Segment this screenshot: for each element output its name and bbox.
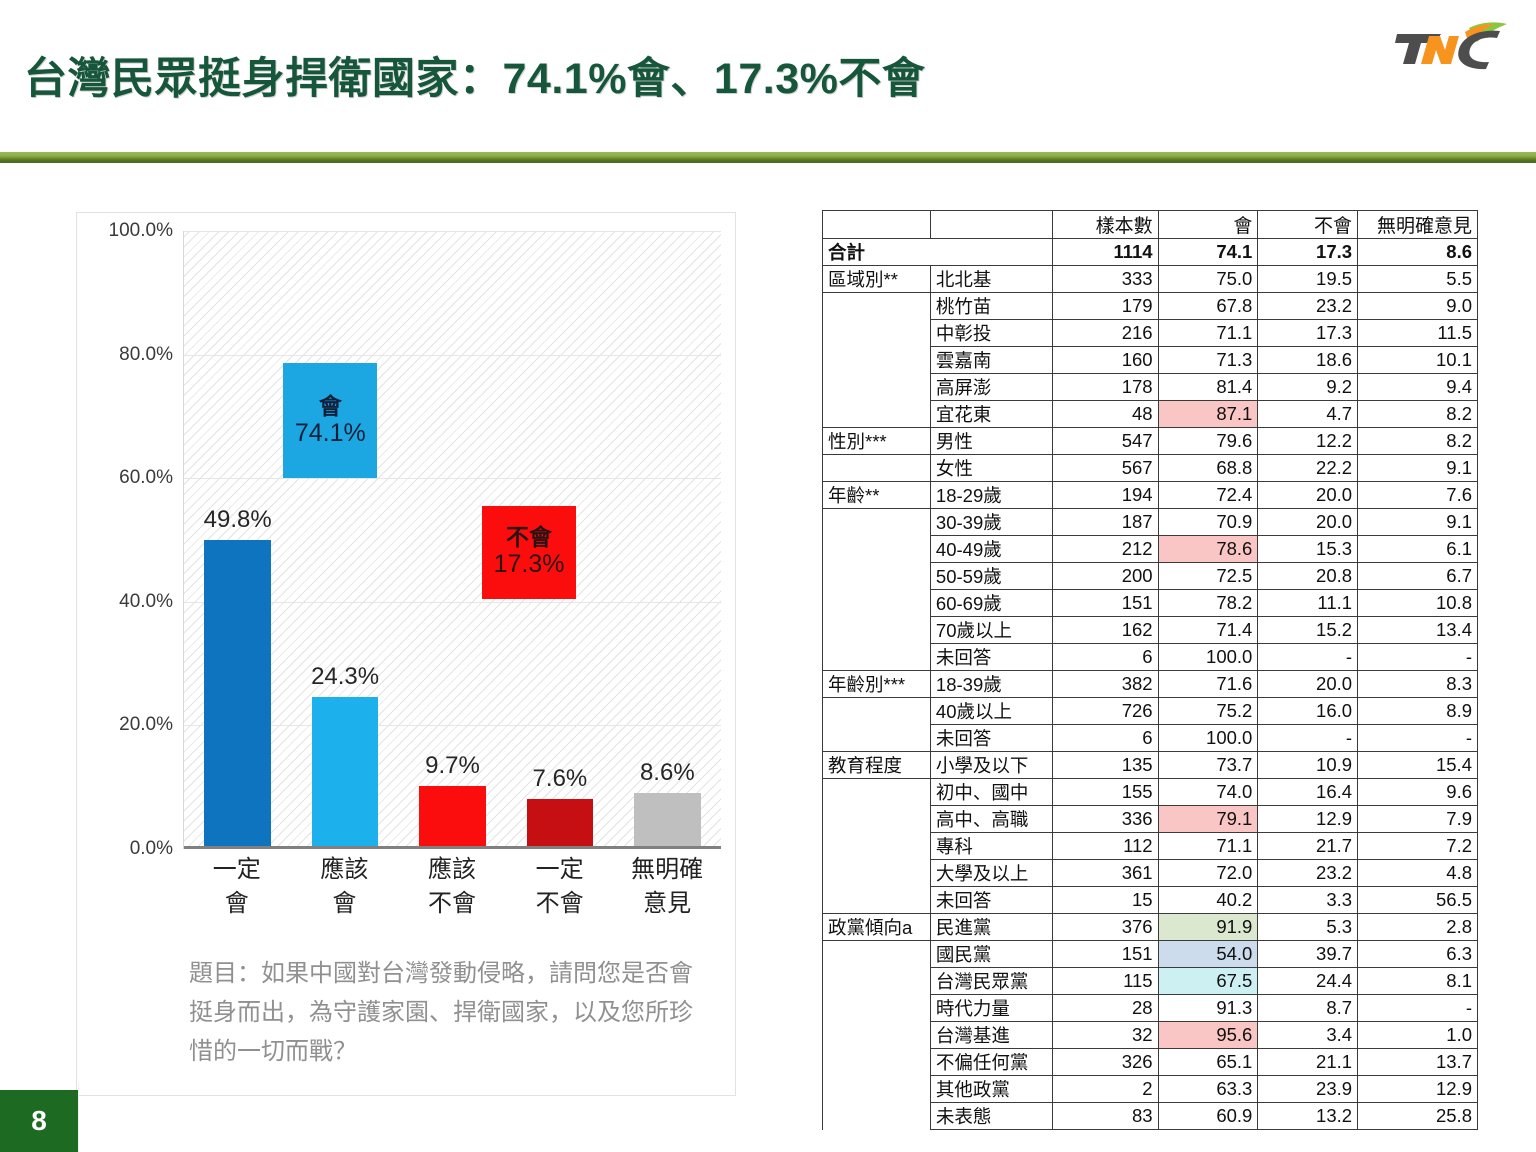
- row-yes-pct: 67.8: [1158, 293, 1258, 320]
- x-label-1-line1: 應該: [291, 853, 399, 887]
- row-yes-pct: 100.0: [1158, 644, 1258, 671]
- row-na-pct: -: [1358, 644, 1478, 671]
- row-na-pct: 5.5: [1358, 266, 1478, 293]
- callout-no-label: 不會: [506, 525, 552, 549]
- row-yes-pct: 91.3: [1158, 995, 1258, 1022]
- row-yes-pct: 75.2: [1158, 698, 1258, 725]
- row-no-pct: 16.0: [1258, 698, 1358, 725]
- table-row: 時代力量2891.38.7-: [823, 995, 1478, 1022]
- row-na-pct: 6.7: [1358, 563, 1478, 590]
- row-na-pct: 13.7: [1358, 1049, 1478, 1076]
- row-sample-size: 200: [1052, 563, 1158, 590]
- row-yes-pct: 74.1: [1158, 239, 1258, 266]
- row-group-label: [823, 725, 931, 752]
- row-group-label: [823, 644, 931, 671]
- row-yes-pct: 72.4: [1158, 482, 1258, 509]
- row-na-pct: 9.6: [1358, 779, 1478, 806]
- row-sample-size: 6: [1052, 725, 1158, 752]
- row-na-pct: 6.3: [1358, 941, 1478, 968]
- row-sample-size: 216: [1052, 320, 1158, 347]
- row-na-pct: 56.5: [1358, 887, 1478, 914]
- row-sub-label: 60-69歲: [930, 590, 1052, 617]
- row-sub-label: 18-29歲: [930, 482, 1052, 509]
- row-yes-pct: 72.0: [1158, 860, 1258, 887]
- page-number: 8: [0, 1090, 78, 1152]
- x-label-4: 無明確 意見: [613, 853, 721, 949]
- th-sub: [930, 211, 1052, 239]
- row-group-label: [823, 509, 931, 536]
- row-na-pct: 7.6: [1358, 482, 1478, 509]
- row-group-label: [823, 536, 931, 563]
- table-row: 其他政黨263.323.912.9: [823, 1076, 1478, 1103]
- table-row: 女性56768.822.29.1: [823, 455, 1478, 482]
- row-no-pct: 4.7: [1258, 401, 1358, 428]
- row-yes-pct: 79.6: [1158, 428, 1258, 455]
- x-label-2: 應該 不會: [398, 853, 506, 949]
- row-yes-pct: 73.7: [1158, 752, 1258, 779]
- row-sub-label: 50-59歲: [930, 563, 1052, 590]
- row-sample-size: 151: [1052, 590, 1158, 617]
- row-no-pct: 24.4: [1258, 968, 1358, 995]
- row-no-pct: 20.0: [1258, 482, 1358, 509]
- row-na-pct: 13.4: [1358, 617, 1478, 644]
- slide: 台灣民眾挺身捍衛國家：74.1%會、17.3%不會 100.0% 80.0% 6…: [0, 0, 1536, 1152]
- row-sub-label: 北北基: [930, 266, 1052, 293]
- row-sample-size: 6: [1052, 644, 1158, 671]
- row-na-pct: -: [1358, 725, 1478, 752]
- row-no-pct: 20.0: [1258, 671, 1358, 698]
- row-no-pct: 11.1: [1258, 590, 1358, 617]
- row-no-pct: 16.4: [1258, 779, 1358, 806]
- row-no-pct: 3.4: [1258, 1022, 1358, 1049]
- table-row: 初中、國中15574.016.49.6: [823, 779, 1478, 806]
- row-no-pct: 10.9: [1258, 752, 1358, 779]
- row-sub-label: 民進黨: [930, 914, 1052, 941]
- row-na-pct: 12.9: [1358, 1076, 1478, 1103]
- row-group-label: [823, 833, 931, 860]
- row-sub-label: 未回答: [930, 887, 1052, 914]
- row-sub-label: 初中、國中: [930, 779, 1052, 806]
- table-row: 雲嘉南16071.318.610.1: [823, 347, 1478, 374]
- row-group-label: [823, 1022, 931, 1049]
- row-na-pct: 8.3: [1358, 671, 1478, 698]
- table-row: 40歲以上72675.216.08.9: [823, 698, 1478, 725]
- row-no-pct: 5.3: [1258, 914, 1358, 941]
- table-header-row: 樣本數 會 不會 無明確意見: [823, 211, 1478, 239]
- row-yes-pct: 74.0: [1158, 779, 1258, 806]
- row-sample-size: 179: [1052, 293, 1158, 320]
- table-row: 年齡別***18-39歲38271.620.08.3: [823, 671, 1478, 698]
- row-group-label: [823, 563, 931, 590]
- row-group-label: [823, 698, 931, 725]
- row-no-pct: 15.3: [1258, 536, 1358, 563]
- row-group-label: 性別***: [823, 428, 931, 455]
- row-sub-label: 小學及以下: [930, 752, 1052, 779]
- x-label-4-line2: 意見: [613, 887, 721, 921]
- table-row: 桃竹苗17967.823.29.0: [823, 293, 1478, 320]
- row-sample-size: 48: [1052, 401, 1158, 428]
- row-no-pct: 3.3: [1258, 887, 1358, 914]
- row-sample-size: 115: [1052, 968, 1158, 995]
- row-sub-label: 未表態: [930, 1103, 1052, 1130]
- table-head: 樣本數 會 不會 無明確意見: [823, 211, 1478, 239]
- row-sample-size: 83: [1052, 1103, 1158, 1130]
- row-no-pct: 18.6: [1258, 347, 1358, 374]
- row-no-pct: 20.0: [1258, 509, 1358, 536]
- row-yes-pct: 71.4: [1158, 617, 1258, 644]
- row-sample-size: 155: [1052, 779, 1158, 806]
- row-no-pct: 9.2: [1258, 374, 1358, 401]
- table-row: 宜花東4887.14.78.2: [823, 401, 1478, 428]
- row-sub-label: 18-39歲: [930, 671, 1052, 698]
- x-label-4-line1: 無明確: [613, 853, 721, 887]
- row-yes-pct: 81.4: [1158, 374, 1258, 401]
- th-sample-size: 樣本數: [1052, 211, 1158, 239]
- x-label-2-line1: 應該: [398, 853, 506, 887]
- bar-certainly-yes: 49.8%: [204, 540, 271, 846]
- row-na-pct: -: [1358, 995, 1478, 1022]
- row-yes-pct: 87.1: [1158, 401, 1258, 428]
- row-no-pct: 23.2: [1258, 293, 1358, 320]
- row-group-label: 年齡**: [823, 482, 931, 509]
- row-sub-label: 專科: [930, 833, 1052, 860]
- bar-value-0: 49.8%: [204, 506, 272, 534]
- row-group-label: 年齡別***: [823, 671, 931, 698]
- callout-yes-label: 會: [319, 394, 342, 418]
- row-group-label: [823, 320, 931, 347]
- table-row: 區域別**北北基33375.019.55.5: [823, 266, 1478, 293]
- row-sub-label: 40-49歲: [930, 536, 1052, 563]
- row-sub-label: 雲嘉南: [930, 347, 1052, 374]
- row-yes-pct: 71.1: [1158, 833, 1258, 860]
- row-na-pct: 6.1: [1358, 536, 1478, 563]
- table-row: 教育程度小學及以下13573.710.915.4: [823, 752, 1478, 779]
- row-sample-size: 547: [1052, 428, 1158, 455]
- row-group-label: [823, 806, 931, 833]
- x-label-0-line1: 一定: [183, 853, 291, 887]
- table-row: 中彰投21671.117.311.5: [823, 320, 1478, 347]
- table-body: 合計111474.117.38.6區域別**北北基33375.019.55.5桃…: [823, 239, 1478, 1130]
- bar-certainly-no: 7.6%: [527, 799, 594, 846]
- row-na-pct: 8.9: [1358, 698, 1478, 725]
- row-sample-size: 376: [1052, 914, 1158, 941]
- row-yes-pct: 40.2: [1158, 887, 1258, 914]
- x-label-1: 應該 會: [291, 853, 399, 949]
- bar-probably-no: 9.7%: [419, 786, 486, 846]
- table-row: 政黨傾向a民進黨37691.95.32.8: [823, 914, 1478, 941]
- row-no-pct: 17.3: [1258, 239, 1358, 266]
- bar-probably-yes: 24.3%: [312, 697, 379, 846]
- table-row: 30-39歲18770.920.09.1: [823, 509, 1478, 536]
- table-row: 50-59歲20072.520.86.7: [823, 563, 1478, 590]
- row-sub-label: 宜花東: [930, 401, 1052, 428]
- row-group-label: 區域別**: [823, 266, 931, 293]
- row-group-label: [823, 887, 931, 914]
- row-na-pct: 11.5: [1358, 320, 1478, 347]
- th-no-opinion: 無明確意見: [1358, 211, 1478, 239]
- table-row: 不偏任何黨32665.121.113.7: [823, 1049, 1478, 1076]
- row-no-pct: 22.2: [1258, 455, 1358, 482]
- row-na-pct: 1.0: [1358, 1022, 1478, 1049]
- row-yes-pct: 78.6: [1158, 536, 1258, 563]
- crosstab-table: 樣本數 會 不會 無明確意見 合計111474.117.38.6區域別**北北基…: [822, 210, 1478, 1130]
- bar-no-opinion: 8.6%: [634, 793, 701, 846]
- row-sample-size: 212: [1052, 536, 1158, 563]
- row-na-pct: 25.8: [1358, 1103, 1478, 1130]
- x-label-2-line2: 不會: [398, 887, 506, 921]
- row-sample-size: 382: [1052, 671, 1158, 698]
- row-yes-pct: 72.5: [1158, 563, 1258, 590]
- callout-no-value: 17.3%: [494, 549, 565, 579]
- row-sample-size: 32: [1052, 1022, 1158, 1049]
- row-sub-label: 桃竹苗: [930, 293, 1052, 320]
- bar-value-3: 7.6%: [533, 765, 588, 793]
- bar-slot-0: 49.8%: [184, 231, 291, 846]
- chart-bars: 49.8% 24.3% 9.7% 7.6%: [184, 231, 721, 846]
- row-sample-size: 726: [1052, 698, 1158, 725]
- page-title: 台灣民眾挺身捍衛國家：74.1%會、17.3%不會: [24, 44, 925, 106]
- th-yes: 會: [1158, 211, 1258, 239]
- chart-panel: 100.0% 80.0% 60.0% 40.0% 20.0% 0.0% 49.8…: [76, 212, 736, 1096]
- table-row: 高屏澎17881.49.29.4: [823, 374, 1478, 401]
- row-sample-size: 361: [1052, 860, 1158, 887]
- bar-value-1: 24.3%: [311, 663, 379, 691]
- table-row: 70歲以上16271.415.213.4: [823, 617, 1478, 644]
- row-sub-label: 未回答: [930, 644, 1052, 671]
- row-na-pct: 9.4: [1358, 374, 1478, 401]
- callout-yes: 會 74.1%: [283, 363, 377, 478]
- row-no-pct: 20.8: [1258, 563, 1358, 590]
- table-row: 未回答6100.0--: [823, 725, 1478, 752]
- row-no-pct: 12.9: [1258, 806, 1358, 833]
- row-sub-label: 時代力量: [930, 995, 1052, 1022]
- row-sub-label: 30-39歲: [930, 509, 1052, 536]
- table-row: 台灣基進3295.63.41.0: [823, 1022, 1478, 1049]
- y-tick-100: 100.0%: [109, 220, 173, 242]
- table-row: 性別***男性54779.612.28.2: [823, 428, 1478, 455]
- row-group-label: [823, 617, 931, 644]
- row-na-pct: 4.8: [1358, 860, 1478, 887]
- table-row: 年齡**18-29歲19472.420.07.6: [823, 482, 1478, 509]
- header-divider: [0, 152, 1536, 163]
- row-no-pct: 15.2: [1258, 617, 1358, 644]
- row-group-label: [823, 1103, 931, 1130]
- row-no-pct: 39.7: [1258, 941, 1358, 968]
- th-no: 不會: [1258, 211, 1358, 239]
- x-label-3-line2: 不會: [506, 887, 614, 921]
- row-yes-pct: 95.6: [1158, 1022, 1258, 1049]
- chart-plot-area: 49.8% 24.3% 9.7% 7.6%: [183, 231, 721, 849]
- y-tick-0: 0.0%: [130, 838, 173, 860]
- row-yes-pct: 68.8: [1158, 455, 1258, 482]
- row-sub-label: 國民黨: [930, 941, 1052, 968]
- row-na-pct: 8.2: [1358, 401, 1478, 428]
- row-yes-pct: 71.3: [1158, 347, 1258, 374]
- row-sub-label: 40歲以上: [930, 698, 1052, 725]
- table-row: 未表態8360.913.225.8: [823, 1103, 1478, 1130]
- row-group-label: [823, 779, 931, 806]
- row-na-pct: 10.1: [1358, 347, 1478, 374]
- row-sub-label: 台灣基進: [930, 1022, 1052, 1049]
- th-group: [823, 211, 931, 239]
- row-yes-pct: 60.9: [1158, 1103, 1258, 1130]
- row-group-label: 合計: [823, 239, 1053, 266]
- x-label-1-line2: 會: [291, 887, 399, 921]
- chart-question-text: 題目：如果中國對台灣發動侵略，請問您是否會挺身而出，為守護家園、捍衛國家，以及您…: [189, 955, 701, 1072]
- row-sample-size: 1114: [1052, 239, 1158, 266]
- row-na-pct: 7.9: [1358, 806, 1478, 833]
- row-group-label: [823, 293, 931, 320]
- row-yes-pct: 79.1: [1158, 806, 1258, 833]
- chart-y-axis: 100.0% 80.0% 60.0% 40.0% 20.0% 0.0%: [77, 231, 181, 849]
- table-row: 高中、高職33679.112.97.9: [823, 806, 1478, 833]
- y-tick-40: 40.0%: [119, 591, 173, 613]
- bar-value-2: 9.7%: [425, 752, 480, 780]
- row-group-label: [823, 590, 931, 617]
- row-group-label: 政黨傾向a: [823, 914, 931, 941]
- table-row: 未回答1540.23.356.5: [823, 887, 1478, 914]
- row-group-label: [823, 860, 931, 887]
- row-sub-label: 高屏澎: [930, 374, 1052, 401]
- row-group-label: [823, 455, 931, 482]
- row-sample-size: 187: [1052, 509, 1158, 536]
- row-sub-label: 未回答: [930, 725, 1052, 752]
- row-group-label: [823, 347, 931, 374]
- row-na-pct: 9.1: [1358, 509, 1478, 536]
- bar-slot-4: 8.6%: [614, 231, 721, 846]
- row-no-pct: 19.5: [1258, 266, 1358, 293]
- chart-x-labels: 一定 會 應該 會 應該 不會 一定 不會 無明確 意見: [183, 853, 721, 949]
- row-sub-label: 70歲以上: [930, 617, 1052, 644]
- row-sample-size: 194: [1052, 482, 1158, 509]
- row-sample-size: 2: [1052, 1076, 1158, 1103]
- chart-x-axis-line: [184, 846, 721, 849]
- row-sample-size: 151: [1052, 941, 1158, 968]
- x-label-3: 一定 不會: [506, 853, 614, 949]
- row-na-pct: 9.1: [1358, 455, 1478, 482]
- row-na-pct: 8.2: [1358, 428, 1478, 455]
- row-sub-label: 高中、高職: [930, 806, 1052, 833]
- row-yes-pct: 70.9: [1158, 509, 1258, 536]
- row-sample-size: 336: [1052, 806, 1158, 833]
- x-label-0-line2: 會: [183, 887, 291, 921]
- row-sample-size: 28: [1052, 995, 1158, 1022]
- row-group-label: [823, 995, 931, 1022]
- row-no-pct: 23.2: [1258, 860, 1358, 887]
- row-sample-size: 15: [1052, 887, 1158, 914]
- table-row: 國民黨15154.039.76.3: [823, 941, 1478, 968]
- row-no-pct: 21.7: [1258, 833, 1358, 860]
- row-group-label: [823, 1076, 931, 1103]
- row-sub-label: 中彰投: [930, 320, 1052, 347]
- row-no-pct: 13.2: [1258, 1103, 1358, 1130]
- y-tick-80: 80.0%: [119, 344, 173, 366]
- row-sample-size: 178: [1052, 374, 1158, 401]
- bar-slot-1: 24.3%: [291, 231, 398, 846]
- row-yes-pct: 71.1: [1158, 320, 1258, 347]
- row-na-pct: 15.4: [1358, 752, 1478, 779]
- crosstab-table-wrap: 樣本數 會 不會 無明確意見 合計111474.117.38.6區域別**北北基…: [822, 210, 1478, 1130]
- row-sub-label: 男性: [930, 428, 1052, 455]
- row-sub-label: 不偏任何黨: [930, 1049, 1052, 1076]
- table-row: 40-49歲21278.615.36.1: [823, 536, 1478, 563]
- row-group-label: [823, 968, 931, 995]
- row-sub-label: 女性: [930, 455, 1052, 482]
- row-yes-pct: 63.3: [1158, 1076, 1258, 1103]
- row-sub-label: 台灣民眾黨: [930, 968, 1052, 995]
- row-na-pct: 8.1: [1358, 968, 1478, 995]
- row-group-label: [823, 374, 931, 401]
- y-tick-60: 60.0%: [119, 467, 173, 489]
- row-sample-size: 160: [1052, 347, 1158, 374]
- row-sample-size: 333: [1052, 266, 1158, 293]
- row-sample-size: 135: [1052, 752, 1158, 779]
- row-group-label: 教育程度: [823, 752, 931, 779]
- table-row: 60-69歲15178.211.110.8: [823, 590, 1478, 617]
- row-sample-size: 112: [1052, 833, 1158, 860]
- row-sub-label: 其他政黨: [930, 1076, 1052, 1103]
- row-na-pct: 10.8: [1358, 590, 1478, 617]
- row-group-label: [823, 941, 931, 968]
- logo-letter-c: [1458, 31, 1500, 69]
- row-group-label: [823, 401, 931, 428]
- row-yes-pct: 54.0: [1158, 941, 1258, 968]
- row-yes-pct: 75.0: [1158, 266, 1258, 293]
- y-tick-20: 20.0%: [119, 714, 173, 736]
- row-no-pct: 17.3: [1258, 320, 1358, 347]
- row-sample-size: 326: [1052, 1049, 1158, 1076]
- table-row: 大學及以上36172.023.24.8: [823, 860, 1478, 887]
- row-na-pct: 2.8: [1358, 914, 1478, 941]
- tnc-logo-mark: [1385, 16, 1513, 78]
- row-no-pct: -: [1258, 644, 1358, 671]
- page-edge-line: [78, 1082, 79, 1152]
- row-group-label: [823, 1049, 931, 1076]
- row-no-pct: 8.7: [1258, 995, 1358, 1022]
- row-no-pct: 12.2: [1258, 428, 1358, 455]
- row-yes-pct: 78.2: [1158, 590, 1258, 617]
- row-na-pct: 9.0: [1358, 293, 1478, 320]
- row-no-pct: 21.1: [1258, 1049, 1358, 1076]
- row-yes-pct: 100.0: [1158, 725, 1258, 752]
- row-sample-size: 162: [1052, 617, 1158, 644]
- row-yes-pct: 65.1: [1158, 1049, 1258, 1076]
- row-yes-pct: 67.5: [1158, 968, 1258, 995]
- row-sub-label: 大學及以上: [930, 860, 1052, 887]
- table-row: 台灣民眾黨11567.524.48.1: [823, 968, 1478, 995]
- row-na-pct: 7.2: [1358, 833, 1478, 860]
- callout-no: 不會 17.3%: [482, 506, 576, 599]
- tnc-logo: [1385, 16, 1513, 78]
- x-label-3-line1: 一定: [506, 853, 614, 887]
- row-yes-pct: 91.9: [1158, 914, 1258, 941]
- row-no-pct: -: [1258, 725, 1358, 752]
- callout-yes-value: 74.1%: [295, 418, 366, 448]
- x-label-0: 一定 會: [183, 853, 291, 949]
- row-na-pct: 8.6: [1358, 239, 1478, 266]
- bar-value-4: 8.6%: [640, 759, 695, 787]
- table-row: 未回答6100.0--: [823, 644, 1478, 671]
- table-row: 合計111474.117.38.6: [823, 239, 1478, 266]
- table-row: 專科11271.121.77.2: [823, 833, 1478, 860]
- row-sample-size: 567: [1052, 455, 1158, 482]
- row-no-pct: 23.9: [1258, 1076, 1358, 1103]
- row-yes-pct: 71.6: [1158, 671, 1258, 698]
